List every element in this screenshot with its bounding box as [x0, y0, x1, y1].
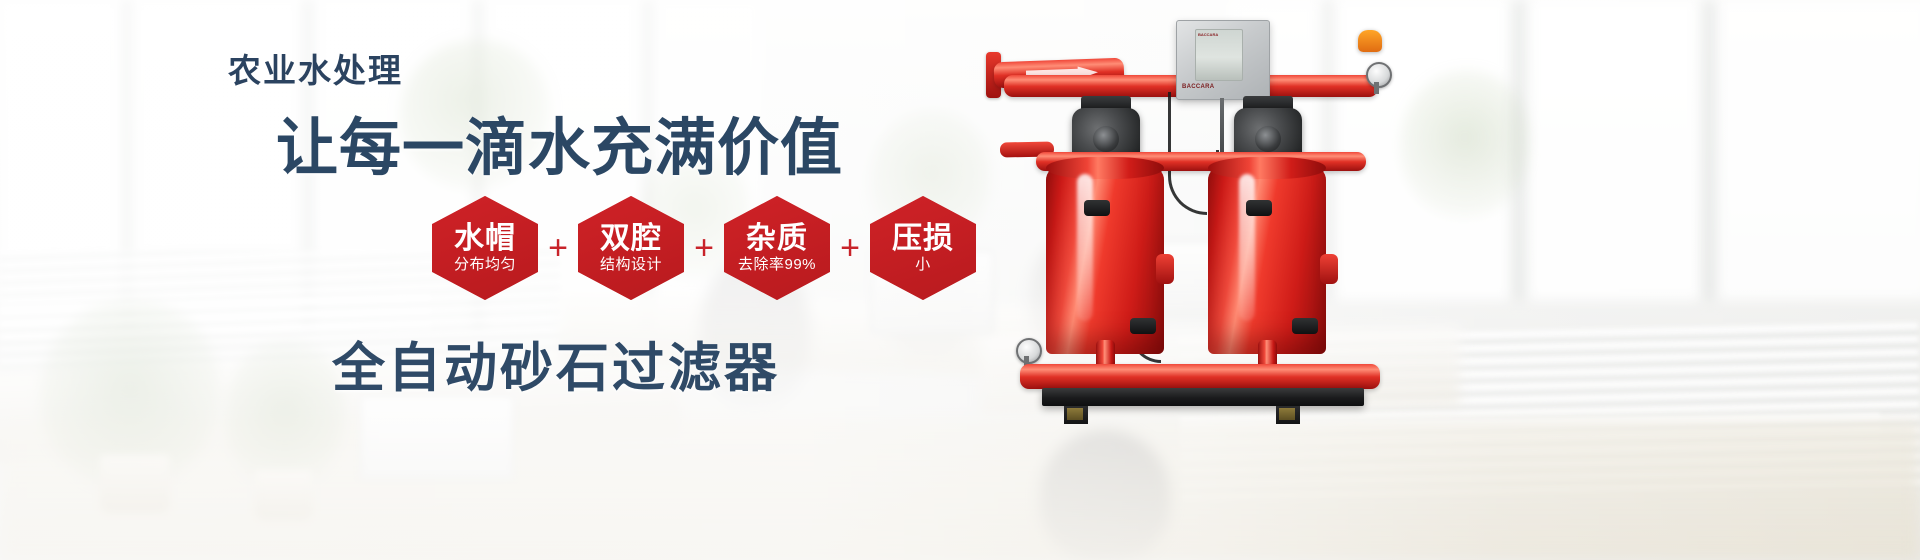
- feature-badge-title: 杂质: [746, 223, 808, 255]
- plus-separator-icon: +: [538, 231, 578, 265]
- banner-copy: 农业水处理 让每一滴水充满价值 全自动砂石过滤器 水帽 分布均匀 + 双腔 结构…: [0, 0, 1200, 560]
- plus-separator-icon: +: [684, 231, 724, 265]
- feature-badge-subtitle: 分布均匀: [454, 257, 516, 274]
- tank-highlight-icon: [1239, 174, 1255, 321]
- feature-badge-title: 压损: [892, 223, 954, 255]
- feature-badge-2: 双腔 结构设计: [578, 196, 684, 300]
- gauge-stem-icon: [1374, 82, 1379, 94]
- banner-subheadline: 全自动砂石过滤器: [332, 326, 780, 402]
- banner-headline: 让每一滴水充满价值: [276, 97, 843, 187]
- feature-badge-1: 水帽 分布均匀: [432, 196, 538, 300]
- feature-badge-title: 双腔: [600, 223, 662, 255]
- tank-top-icon: [1208, 157, 1326, 179]
- feature-badge-subtitle: 结构设计: [600, 257, 662, 274]
- plus-separator-icon: +: [830, 231, 870, 265]
- feature-badge-4: 压损 小: [870, 196, 976, 300]
- feature-badge-3: 杂质 去除率99%: [724, 196, 830, 300]
- feature-badge-subtitle: 去除率99%: [738, 257, 816, 274]
- orange-valve-knob-icon: [1358, 30, 1382, 52]
- skid-leg-icon: [1276, 406, 1300, 424]
- feature-badge-subtitle: 小: [915, 257, 931, 274]
- promo-banner: BACCARA BACCARA: [0, 0, 1920, 560]
- pressure-gauge-icon: [1366, 62, 1392, 88]
- side-fitting-icon: [1320, 254, 1338, 284]
- feature-badge-row: 水帽 分布均匀 + 双腔 结构设计 + 杂质 去除率99% + 压损 小: [432, 196, 976, 300]
- hose-clamp-icon: [1292, 318, 1318, 334]
- hose-clamp-icon: [1246, 200, 1272, 216]
- feature-badge-title: 水帽: [454, 223, 516, 255]
- controller-brand-small-label: BACCARA: [1198, 32, 1218, 37]
- banner-eyebrow: 农业水处理: [228, 44, 403, 92]
